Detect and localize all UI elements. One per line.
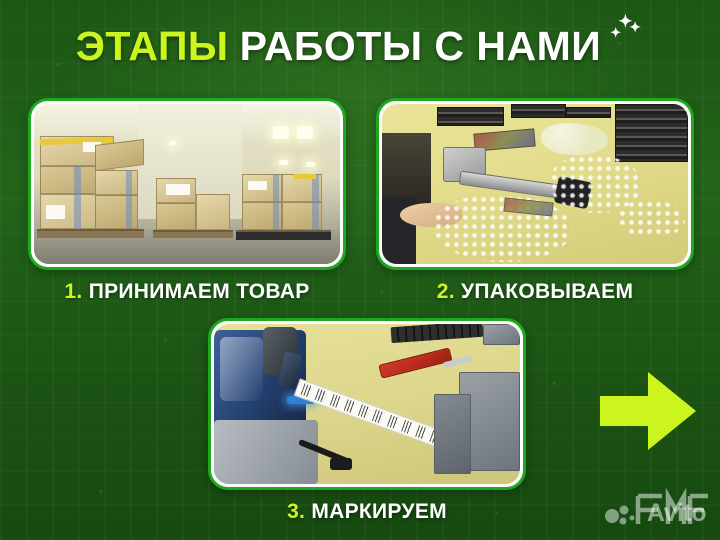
step-photo-card-1[interactable] [28,98,346,270]
step-label-2: УПАКОВЫВАЕМ [461,280,633,303]
step-number-1: 1. [64,280,82,303]
sparkle-icon: ✦ [629,20,641,34]
step-number-3: 3. [287,500,305,523]
step-photo-card-3[interactable] [208,318,526,490]
step-photo-2 [382,104,688,264]
step-caption-1: 1. ПРИНИМАЕМ ТОВАР [28,280,346,304]
step-label-3: МАРКИРУЕМ [311,500,447,523]
title-rest: РАБОТЫ С НАМИ [240,26,602,67]
sparkle-group: ✦ ✦ ✦ [604,13,644,53]
step-photo-3 [214,324,520,484]
arrow-right-icon [600,368,696,454]
sparkle-icon: ✦ [610,26,621,39]
title-accent-word: ЭТАПЫ [76,26,229,67]
step-photo-1 [34,104,340,264]
promo-banner: ЭТАПЫ РАБОТЫ С НАМИ ✦ ✦ ✦ [0,0,720,540]
step-photo-card-2[interactable] [376,98,694,270]
step-caption-3: 3. МАРКИРУЕМ [208,500,526,524]
step-caption-2: 2. УПАКОВЫВАЕМ [376,280,694,304]
step-number-2: 2. [437,280,455,303]
step-label-1: ПРИНИМАЕМ ТОВАР [89,280,310,303]
page-title: ЭТАПЫ РАБОТЫ С НАМИ ✦ ✦ ✦ [0,26,720,67]
avito-watermark: Avito [647,499,706,528]
